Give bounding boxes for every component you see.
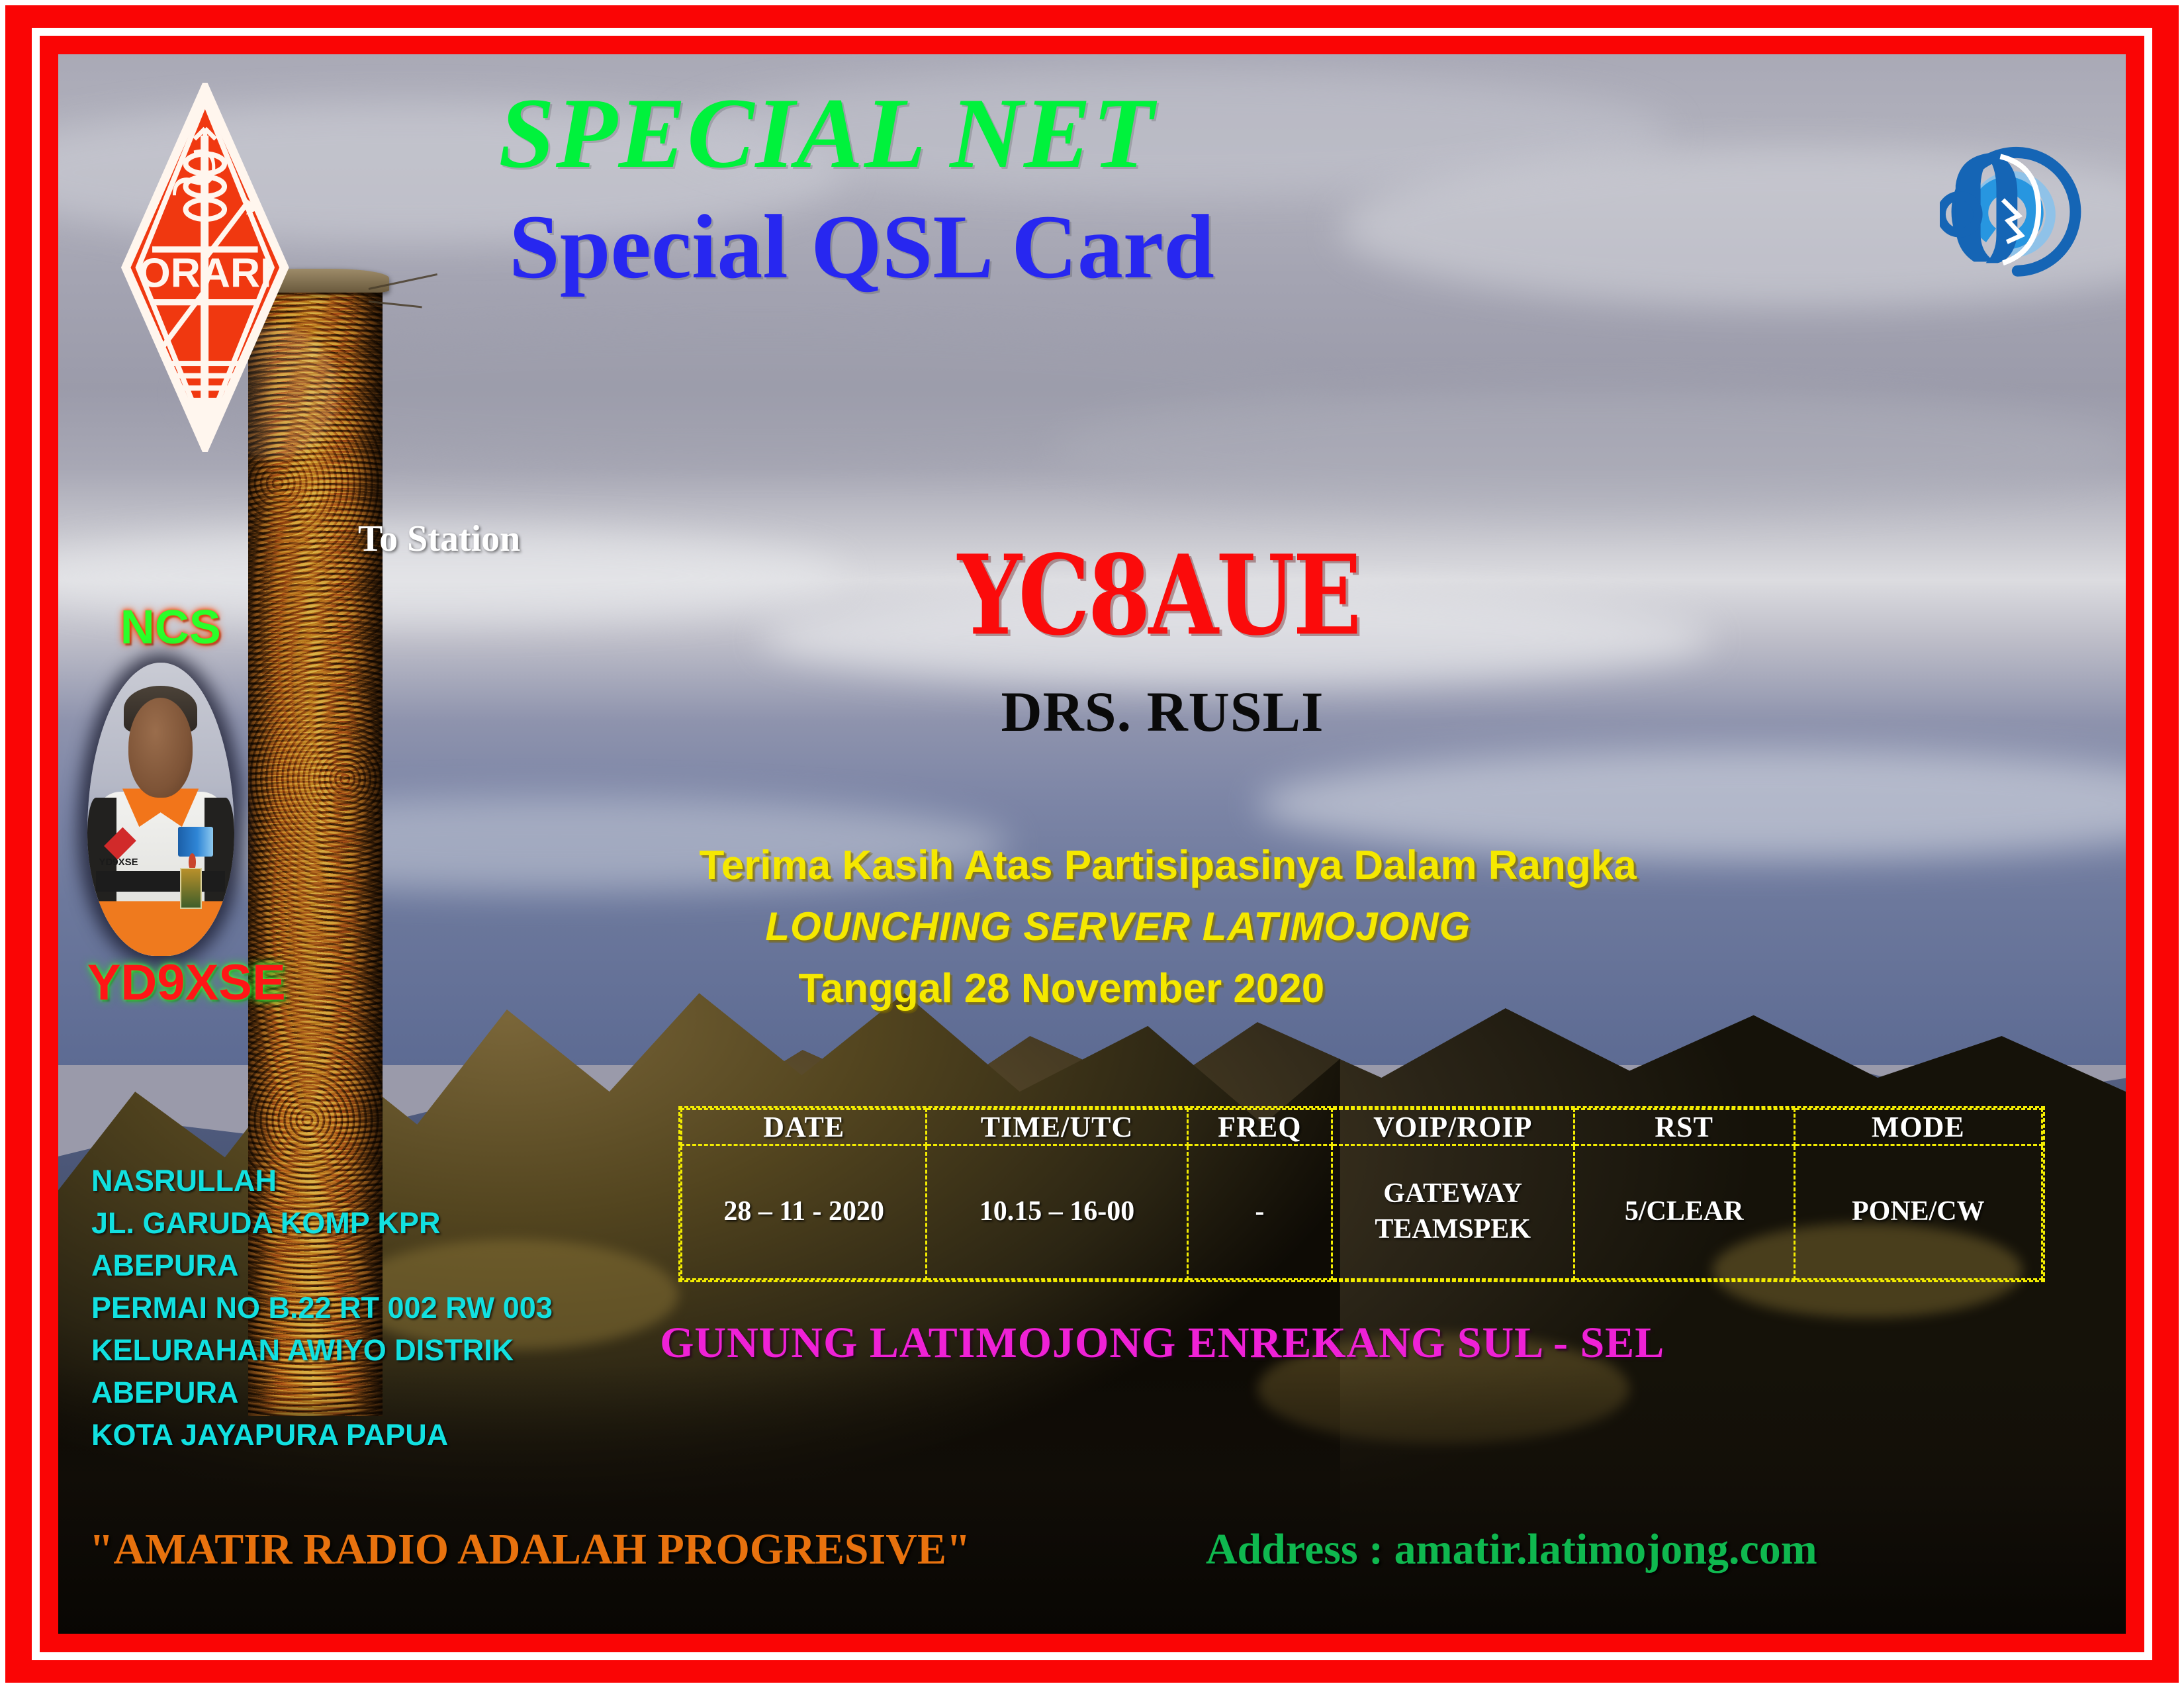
column-header-mode: MODE — [1794, 1109, 2042, 1145]
portrait-shirt-callsign: YD9XSE — [99, 857, 138, 868]
ncs-operator-photo: YD9XSE — [87, 663, 234, 957]
mountain-caption: GUNUNG LATIMOJONG ENREKANG SUL - SEL — [660, 1321, 1664, 1365]
column-header-time: TIME/UTC — [927, 1109, 1188, 1145]
address-line: KELURAHAN AWIYO DISTRIK — [91, 1329, 553, 1372]
cell-mode: PONE/CW — [1794, 1145, 2042, 1280]
cell-time: 10.15 – 16-00 — [927, 1145, 1188, 1280]
website-address: Address : amatir.latimojong.com — [1206, 1528, 1817, 1571]
ncs-label: NCS — [120, 604, 221, 651]
cloud-band — [1051, 386, 2126, 512]
address-line: NASRULLAH — [91, 1160, 553, 1202]
address-line: ABEPURA — [91, 1372, 553, 1414]
page-subtitle: Special QSL Card — [509, 201, 1214, 293]
thanks-line-1: Terima Kasih Atas Partisipasinya Dalam R… — [699, 845, 1636, 886]
portrait-chest-logo — [178, 827, 213, 856]
portrait-belt — [96, 871, 225, 892]
operator-name: DRS. RUSLI — [1001, 683, 1324, 740]
column-header-date: DATE — [682, 1109, 927, 1145]
qso-data-table: DATE TIME/UTC FREQ VOIP/ROIP RST MODE 28… — [678, 1106, 2045, 1282]
mailing-address: NASRULLAH JL. GARUDA KOMP KPR ABEPURA PE… — [91, 1160, 553, 1456]
address-line: ABEPURA — [91, 1244, 553, 1287]
address-line: KOTA JAYAPURA PAPUA — [91, 1414, 553, 1456]
table-header-row: DATE TIME/UTC FREQ VOIP/ROIP RST MODE — [682, 1109, 2042, 1145]
thanks-line-3: Tanggal 28 November 2020 — [798, 968, 1324, 1009]
portrait-face — [128, 698, 193, 798]
cell-date: 28 – 11 - 2020 — [682, 1145, 927, 1280]
cell-voip-line-2: TEAMSPEK — [1333, 1212, 1573, 1248]
background-photo: ORARI SPECIAL NET Special QSL Card — [58, 54, 2126, 1634]
broadcast-headset-logo — [1940, 79, 2085, 332]
to-station-label: To Station — [358, 520, 520, 557]
cell-voip-line-1: GATEWAY — [1333, 1176, 1573, 1212]
column-header-freq: FREQ — [1187, 1109, 1332, 1145]
column-header-voip-roip: VOIP/ROIP — [1332, 1109, 1574, 1145]
station-callsign: YC8AUE — [958, 541, 1359, 651]
cell-voip-roip: GATEWAY TEAMSPEK — [1332, 1145, 1574, 1280]
cell-freq: - — [1187, 1145, 1332, 1280]
column-header-rst: RST — [1574, 1109, 1794, 1145]
cell-rst: 5/CLEAR — [1574, 1145, 1794, 1280]
orari-logo: ORARI — [91, 83, 319, 452]
thanks-line-2: LOUNCHING SERVER LATIMOJONG — [765, 907, 1471, 947]
address-line: PERMAI NO B.22 RT 002 RW 003 — [91, 1287, 553, 1329]
ncs-callsign: YD9XSE — [87, 958, 286, 1008]
portrait-id-card — [180, 868, 202, 909]
qsl-card: ORARI SPECIAL NET Special QSL Card — [0, 0, 2184, 1688]
address-line: JL. GARUDA KOMP KPR — [91, 1202, 553, 1244]
table-row: 28 – 11 - 2020 10.15 – 16-00 - GATEWAY T… — [682, 1145, 2042, 1280]
club-motto: "AMATIR RADIO ADALAH PROGRESIVE" — [89, 1528, 971, 1571]
orari-wordmark: ORARI — [138, 250, 271, 296]
page-title: SPECIAL NET — [498, 83, 1155, 183]
